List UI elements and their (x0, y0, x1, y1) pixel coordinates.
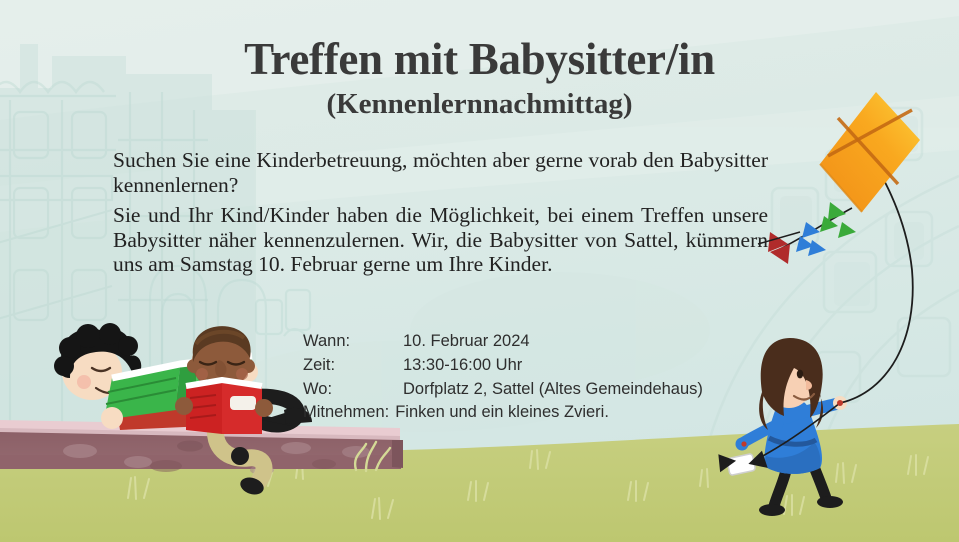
description-paragraph: Sie und Ihr Kind/Kinder haben die Möglic… (113, 203, 768, 277)
page-title: Treffen mit Babysitter/in (0, 36, 959, 83)
page-subtitle: (Kennenlernnachmittag) (0, 89, 959, 121)
detail-row-wo: Wo:Dorfplatz 2, Sattel (Altes Gemeindeha… (303, 378, 703, 402)
detail-value-zeit: 13:30-16:00 Uhr (403, 354, 522, 378)
poster-text-content: Treffen mit Babysitter/in (Kennenlernnac… (0, 0, 959, 542)
detail-row-zeit: Zeit:13:30-16:00 Uhr (303, 354, 703, 378)
detail-row-wann: Wann:10. Februar 2024 (303, 330, 703, 354)
detail-label-wo: Wo: (303, 378, 403, 402)
detail-value-wo: Dorfplatz 2, Sattel (Altes Gemeindehaus) (403, 378, 703, 402)
detail-label-mitnehmen: Mitnehmen: (303, 401, 395, 425)
poster-canvas: Treffen mit Babysitter/in (Kennenlernnac… (0, 0, 959, 542)
event-details-block: Wann:10. Februar 2024 Zeit:13:30-16:00 U… (303, 330, 703, 425)
detail-row-mitnehmen: Mitnehmen:Finken und ein kleines Zvieri. (303, 401, 703, 425)
detail-label-zeit: Zeit: (303, 354, 403, 378)
detail-label-wann: Wann: (303, 330, 403, 354)
intro-paragraph: Suchen Sie eine Kinderbetreuung, möchten… (113, 148, 768, 197)
detail-value-wann: 10. Februar 2024 (403, 330, 530, 354)
detail-value-mitnehmen: Finken und ein kleines Zvieri. (395, 401, 609, 425)
